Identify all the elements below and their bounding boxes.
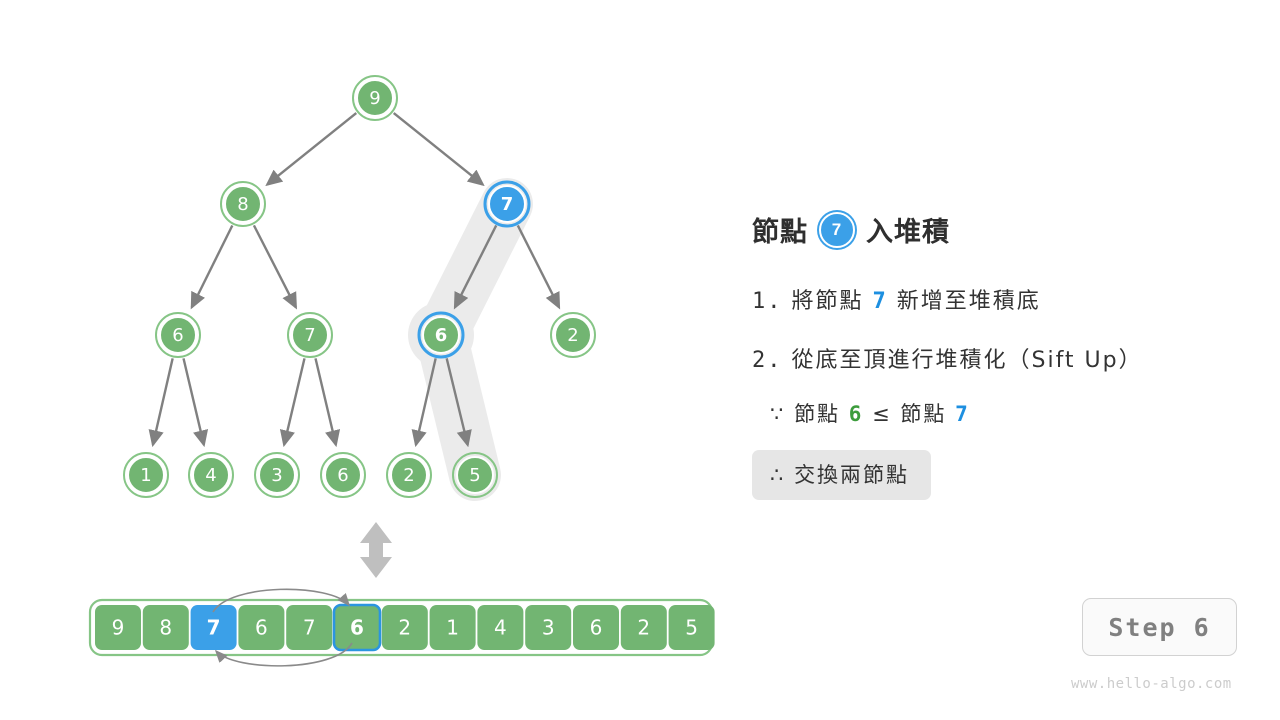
tree-edge (153, 358, 173, 444)
tree-node[interactable]: 2 (551, 313, 595, 357)
step-badge-label: Step 6 (1108, 613, 1210, 642)
reason-value-a: 6 (849, 402, 864, 426)
tree-node[interactable]: 7 (485, 182, 529, 226)
array-cell[interactable]: 6 (573, 605, 619, 650)
tree-node[interactable]: 1 (124, 453, 168, 497)
tree-edge (316, 358, 336, 444)
array-cell-value: 7 (207, 616, 221, 640)
title-node-badge: 7 (819, 212, 855, 248)
tree-node-value: 7 (501, 194, 514, 215)
array-cell[interactable]: 6 (238, 605, 284, 650)
watermark: www.hello-algo.com (1071, 676, 1232, 692)
tree-node[interactable]: 6 (321, 453, 365, 497)
array-cell-value: 5 (685, 616, 698, 640)
tree-node[interactable]: 6 (419, 313, 463, 357)
tree-edge (254, 225, 296, 307)
heap-array: 9876762143625 (90, 600, 715, 655)
reason-operator: ≤ (872, 402, 892, 426)
tree-node-value: 9 (369, 88, 380, 109)
array-cell[interactable]: 2 (382, 605, 428, 650)
tree-node-value: 1 (140, 465, 151, 486)
tree-node[interactable]: 9 (353, 76, 397, 120)
array-cell-value: 2 (637, 616, 650, 640)
tree-node-value: 4 (205, 465, 216, 486)
array-cell-value: 7 (303, 616, 316, 640)
array-cell[interactable]: 3 (525, 605, 571, 650)
tree-node-value: 3 (271, 465, 282, 486)
array-cell-value: 3 (542, 616, 555, 640)
tree-node-value: 7 (304, 325, 315, 346)
panel-title-suffix: 入堆積 (866, 210, 950, 249)
step-item-1: 1. 將節點 7 新增至堆積底 (752, 283, 1272, 315)
tree-edge (267, 113, 356, 185)
slide-canvas: 9876762143625 9876762143625 節點 7 入堆積 (0, 0, 1280, 720)
tree-node-value: 5 (469, 465, 480, 486)
tree-node-value: 6 (337, 465, 348, 486)
array-cell[interactable]: 7 (286, 605, 332, 650)
reason-line: ∵ 節點 6 ≤ 節點 7 (752, 398, 1272, 428)
step-2-text: 從底至頂進行堆積化（Sift Up） (792, 348, 1143, 373)
tree-edge (184, 358, 204, 444)
array-cell-value: 6 (350, 616, 364, 640)
heap-diagram: 9876762143625 9876762143625 (0, 0, 760, 720)
reason-value-b: 7 (955, 402, 970, 426)
tree-nodes: 9876762143625 (124, 76, 595, 497)
because-symbol: ∵ (770, 402, 785, 426)
tree-node-value: 8 (237, 194, 248, 215)
therefore-symbol: ∴ (770, 463, 785, 487)
step-1-value: 7 (873, 289, 888, 314)
array-cell[interactable]: 5 (669, 605, 715, 650)
step-1-text-after: 新增至堆積底 (897, 289, 1041, 314)
step-list: 1. 將節點 7 新增至堆積底 2. 從底至頂進行堆積化（Sift Up） (752, 283, 1272, 401)
tree-edge (192, 225, 233, 307)
tree-node[interactable]: 2 (387, 453, 431, 497)
array-cell[interactable]: 8 (143, 605, 189, 650)
watermark-text: www.hello-algo.com (1071, 676, 1232, 692)
tree-node[interactable]: 7 (288, 313, 332, 357)
step-item-2: 2. 從底至頂進行堆積化（Sift Up） (752, 342, 1272, 374)
title-node-badge-value: 7 (832, 220, 842, 240)
tree-node[interactable]: 3 (255, 453, 299, 497)
tree-node[interactable]: 8 (221, 182, 265, 226)
array-cell-value: 6 (590, 616, 603, 640)
reason-label-b: 節點 (900, 402, 946, 426)
step-2-index: 2. (752, 348, 783, 373)
array-cell-value: 6 (255, 616, 268, 640)
array-cell[interactable]: 6 (334, 605, 380, 650)
tree-edge (284, 358, 304, 444)
tree-edge (394, 113, 483, 185)
tree-node[interactable]: 5 (453, 453, 497, 497)
array-cell[interactable]: 9 (95, 605, 141, 650)
tree-node-value: 6 (172, 325, 183, 346)
array-cell-value: 4 (494, 616, 507, 640)
panel-title: 節點 7 入堆積 (752, 210, 950, 249)
array-cell-value: 1 (446, 616, 459, 640)
array-cell-value: 9 (112, 616, 125, 640)
array-cell-value: 8 (159, 616, 172, 640)
array-cell[interactable]: 1 (430, 605, 476, 650)
array-cell[interactable]: 2 (621, 605, 667, 650)
step-badge: Step 6 (1082, 598, 1237, 656)
step-1-index: 1. (752, 289, 783, 314)
array-cell-value: 2 (398, 616, 411, 640)
panel-title-prefix: 節點 (752, 210, 808, 249)
tree-node-value: 2 (567, 325, 578, 346)
conclusion-line: ∴ 交換兩節點 (752, 450, 931, 500)
reason-label-a: 節點 (794, 402, 840, 426)
conclusion-text: 交換兩節點 (794, 463, 909, 487)
tree-node-value: 6 (435, 325, 448, 346)
tree-node-value: 2 (403, 465, 414, 486)
array-cell[interactable]: 4 (477, 605, 523, 650)
tree-node[interactable]: 4 (189, 453, 233, 497)
tree-node[interactable]: 6 (156, 313, 200, 357)
step-1-text-before: 將節點 (792, 289, 864, 314)
tree-array-link-arrow (360, 522, 392, 578)
explanation-panel: 節點 7 入堆積 1. 將節點 7 新增至堆積底 2. 從底至頂進行堆積化（Si… (752, 0, 1272, 720)
tree-edge (518, 225, 559, 307)
